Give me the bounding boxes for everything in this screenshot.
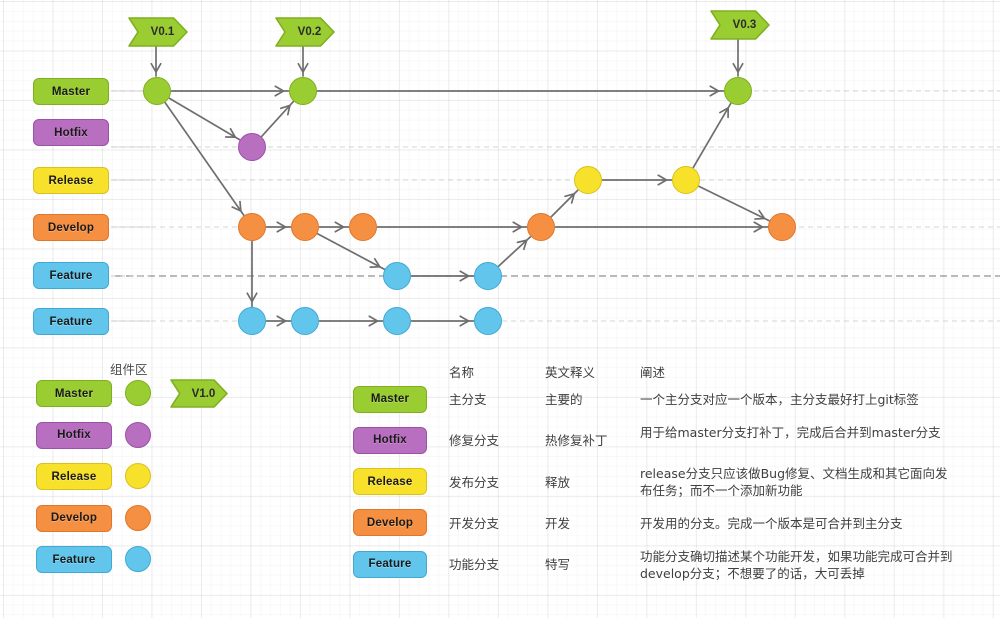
table-cell-name: 主分支 xyxy=(449,391,487,408)
branch-label-master[interactable]: Master xyxy=(33,78,109,105)
legend-dot-master[interactable] xyxy=(125,380,151,406)
table-badge-release[interactable]: Release xyxy=(353,468,427,495)
table-header-name: 名称 xyxy=(449,362,474,381)
legend-dot-release[interactable] xyxy=(125,463,151,489)
commit-node-m2[interactable] xyxy=(289,77,317,105)
version-tag-V0-3[interactable]: V0.3 xyxy=(710,10,770,40)
commit-node-d3[interactable] xyxy=(349,213,377,241)
table-cell-description: 功能分支确切描述某个功能开发，如果功能完成可合并到develop分支；不想要了的… xyxy=(640,548,955,582)
edge-d2-fa1 xyxy=(318,234,384,269)
commit-node-m1[interactable] xyxy=(143,77,171,105)
legend-version-tag[interactable]: V1.0 xyxy=(170,379,228,408)
commit-node-d1[interactable] xyxy=(238,213,266,241)
table-cell-description: 开发用的分支。完成一个版本是可合并到主分支 xyxy=(640,515,955,532)
edge-m1-h1 xyxy=(169,98,239,139)
table-cell-description: 用于给master分支打补丁，完成后合并到master分支 xyxy=(640,424,955,441)
branch-label-hotfix[interactable]: Hotfix xyxy=(33,119,109,146)
branch-label-feature1[interactable]: Feature xyxy=(33,262,109,289)
edge-h1-m2 xyxy=(262,102,293,137)
tag-label: V0.3 xyxy=(724,19,757,31)
tag-label: V0.1 xyxy=(142,26,175,38)
legend-pill-feature[interactable]: Feature xyxy=(36,546,112,573)
commit-node-fb1[interactable] xyxy=(238,307,266,335)
commit-node-fb3[interactable] xyxy=(383,307,411,335)
edge-r2-d5 xyxy=(699,186,769,220)
table-cell-english: 特写 xyxy=(545,556,570,573)
commit-node-fb2[interactable] xyxy=(291,307,319,335)
commit-node-h1[interactable] xyxy=(238,133,266,161)
table-cell-description: release分支只应该做Bug修复、文档生成和其它面向发布任务；而不一个添加新… xyxy=(640,465,955,499)
commit-node-fb4[interactable] xyxy=(474,307,502,335)
legend-pill-master[interactable]: Master xyxy=(36,380,112,407)
commit-node-m3[interactable] xyxy=(724,77,752,105)
table-cell-english: 开发 xyxy=(545,515,570,532)
version-tag-V0-2[interactable]: V0.2 xyxy=(275,17,335,47)
branch-label-develop[interactable]: Develop xyxy=(33,214,109,241)
commit-node-r1[interactable] xyxy=(574,166,602,194)
commit-node-d2[interactable] xyxy=(291,213,319,241)
branch-label-feature2[interactable]: Feature xyxy=(33,308,109,335)
tag-label: V0.2 xyxy=(289,26,322,38)
edge-r2-m3 xyxy=(693,104,730,168)
table-cell-english: 热修复补丁 xyxy=(545,432,608,449)
table-header-desc: 阐述 xyxy=(640,362,665,381)
table-cell-name: 发布分支 xyxy=(449,474,499,491)
commit-node-fa1[interactable] xyxy=(383,262,411,290)
table-cell-name: 开发分支 xyxy=(449,515,499,532)
table-badge-hotfix[interactable]: Hotfix xyxy=(353,427,427,454)
table-cell-english: 主要的 xyxy=(545,391,583,408)
legend-pill-release[interactable]: Release xyxy=(36,463,112,490)
table-cell-name: 修复分支 xyxy=(449,432,499,449)
table-cell-english: 释放 xyxy=(545,474,570,491)
commit-node-d5[interactable] xyxy=(768,213,796,241)
tag-label: V1.0 xyxy=(183,388,216,400)
table-header-english: 英文释义 xyxy=(545,362,595,381)
legend-pill-hotfix[interactable]: Hotfix xyxy=(36,422,112,449)
table-badge-master[interactable]: Master xyxy=(353,386,427,413)
table-cell-description: 一个主分支对应一个版本，主分支最好打上git标签 xyxy=(640,391,955,408)
table-badge-feature[interactable]: Feature xyxy=(353,551,427,578)
commit-node-fa2[interactable] xyxy=(474,262,502,290)
version-tag-V0-1[interactable]: V0.1 xyxy=(128,17,188,47)
table-cell-name: 功能分支 xyxy=(449,556,499,573)
legend-pill-develop[interactable]: Develop xyxy=(36,505,112,532)
commit-node-r2[interactable] xyxy=(672,166,700,194)
table-badge-develop[interactable]: Develop xyxy=(353,509,427,536)
legend-dot-develop[interactable] xyxy=(125,505,151,531)
legend-title: 组件区 xyxy=(110,359,148,378)
legend-dot-hotfix[interactable] xyxy=(125,422,151,448)
commit-node-d4[interactable] xyxy=(527,213,555,241)
diagram-canvas: MasterHotfixReleaseDevelopFeatureFeature… xyxy=(0,0,1000,618)
legend-dot-feature[interactable] xyxy=(125,546,151,572)
branch-label-release[interactable]: Release xyxy=(33,167,109,194)
